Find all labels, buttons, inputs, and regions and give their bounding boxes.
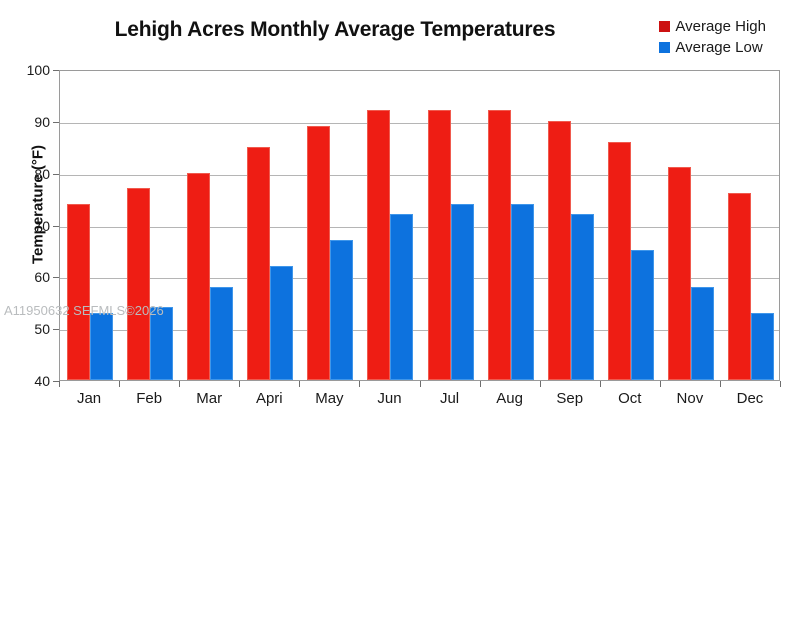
plot-area xyxy=(59,70,780,381)
bar-oct-high xyxy=(608,142,631,380)
gridline xyxy=(60,123,779,124)
chart-legend: Average High Average Low xyxy=(659,16,766,58)
y-tick-label: 70 xyxy=(10,218,50,234)
x-tick-mark xyxy=(480,381,481,387)
y-tick-label: 90 xyxy=(10,114,50,130)
x-tick-mark xyxy=(660,381,661,387)
legend-label-average-high: Average High xyxy=(675,18,766,35)
legend-swatch-average-low xyxy=(659,42,670,53)
legend-label-average-low: Average Low xyxy=(675,39,762,56)
bar-nov-low xyxy=(691,287,714,380)
bar-apri-high xyxy=(247,147,270,380)
y-tick-label: 80 xyxy=(10,166,50,182)
bar-feb-low xyxy=(150,307,173,380)
y-tick-mark xyxy=(53,70,59,71)
bar-mar-high xyxy=(187,173,210,380)
bar-sep-low xyxy=(571,214,594,380)
y-tick-label: 50 xyxy=(10,321,50,337)
bar-mar-low xyxy=(210,287,233,380)
bar-may-low xyxy=(330,240,353,380)
y-tick-mark xyxy=(53,277,59,278)
bar-aug-low xyxy=(511,204,534,380)
y-tick-label: 40 xyxy=(10,373,50,389)
legend-item-average-high: Average High xyxy=(659,16,766,37)
legend-item-average-low: Average Low xyxy=(659,37,766,58)
x-tick-mark xyxy=(119,381,120,387)
chart-title: Lehigh Acres Monthly Average Temperature… xyxy=(70,18,600,42)
bar-dec-low xyxy=(751,313,774,380)
x-tick-mark xyxy=(600,381,601,387)
y-tick-mark xyxy=(53,122,59,123)
bar-jan-high xyxy=(67,204,90,380)
temperature-bar-chart: Lehigh Acres Monthly Average Temperature… xyxy=(0,0,788,627)
y-tick-mark xyxy=(53,329,59,330)
bar-apri-low xyxy=(270,266,293,380)
x-tick-mark xyxy=(420,381,421,387)
x-tick-label-dec: Dec xyxy=(715,390,785,407)
bar-jan-low xyxy=(90,313,113,380)
bar-jul-high xyxy=(428,110,451,380)
x-tick-mark xyxy=(299,381,300,387)
x-tick-mark xyxy=(59,381,60,387)
bar-jul-low xyxy=(451,204,474,380)
x-tick-mark xyxy=(359,381,360,387)
bar-nov-high xyxy=(668,167,691,380)
y-tick-label: 60 xyxy=(10,269,50,285)
x-tick-mark xyxy=(179,381,180,387)
y-tick-mark xyxy=(53,226,59,227)
bar-sep-high xyxy=(548,121,571,380)
bar-jun-high xyxy=(367,110,390,380)
bar-jun-low xyxy=(390,214,413,380)
x-tick-mark xyxy=(540,381,541,387)
x-tick-mark xyxy=(720,381,721,387)
bar-dec-high xyxy=(728,193,751,380)
bar-aug-high xyxy=(488,110,511,380)
x-tick-mark xyxy=(239,381,240,387)
y-tick-label: 100 xyxy=(10,62,50,78)
bar-oct-low xyxy=(631,250,654,380)
legend-swatch-average-high xyxy=(659,21,670,32)
bar-may-high xyxy=(307,126,330,380)
y-tick-mark xyxy=(53,174,59,175)
x-tick-mark xyxy=(780,381,781,387)
bar-feb-high xyxy=(127,188,150,380)
